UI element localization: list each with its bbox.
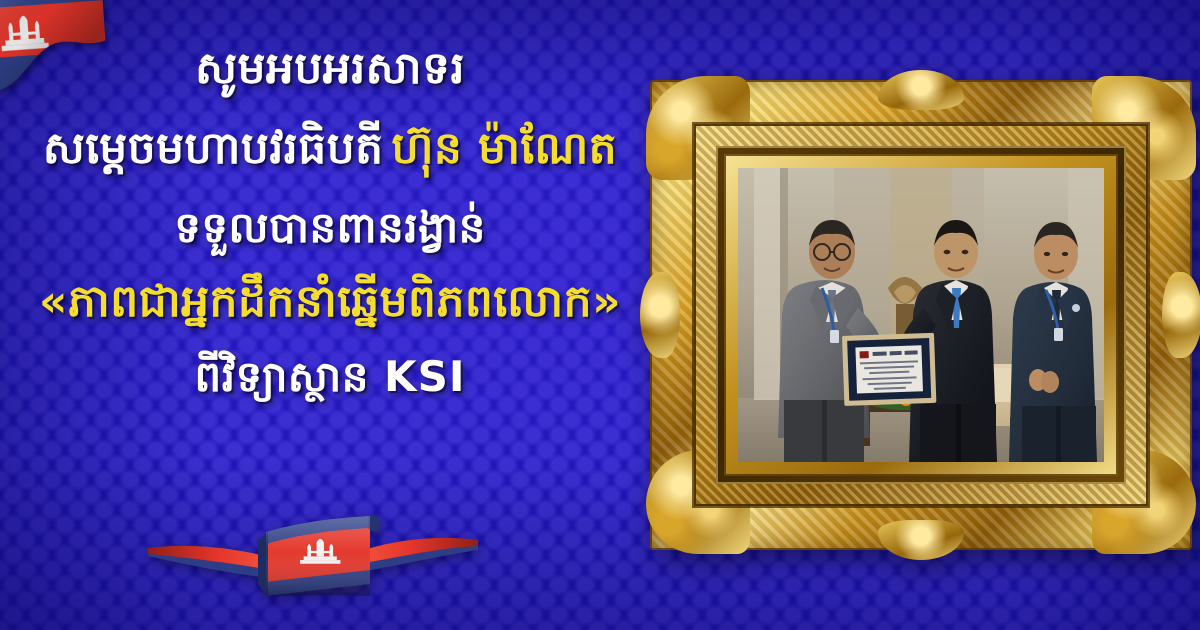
congratulation-banner: សូមអបអរសាទរ សម្តេចមហាបវរធិបតីហ៊ុន ម៉ាណែត… (0, 0, 1200, 630)
awarding-body-acronym: KSI (384, 352, 465, 401)
photograph (738, 168, 1104, 462)
headline-block: សូមអបអរសាទរ សម្តេចមហាបវរធិបតីហ៊ុន ម៉ាណែត… (0, 46, 660, 399)
leader-name: ហ៊ុន ម៉ាណែត (391, 123, 617, 174)
headline-line-awarding-body: ពីវិទ្យាស្ថាន KSI (0, 355, 660, 399)
frame-crest-right (1162, 272, 1200, 358)
honorific-title: សម្តេចមហាបវរធិបតី (43, 123, 384, 174)
headline-line-received-award: ទទួលបានពានរង្វាន់ (0, 206, 660, 250)
cambodia-flag-ribbon-icon (148, 504, 478, 608)
photo-content (738, 168, 1104, 462)
headline-line-congratulations: សូមអបអរសាទរ (0, 46, 660, 92)
headline-line-title-name: សម្តេចមហាបវរធិបតីហ៊ុន ម៉ាណែត (0, 126, 660, 172)
gold-framed-photo (650, 80, 1192, 550)
awarding-body-khmer: ពីវិទ្យាស្ថាន (195, 352, 369, 401)
headline-line-award-title: «ភាពជាអ្នកដឹកនាំឆ្នើមពិភពលោក» (0, 279, 660, 325)
